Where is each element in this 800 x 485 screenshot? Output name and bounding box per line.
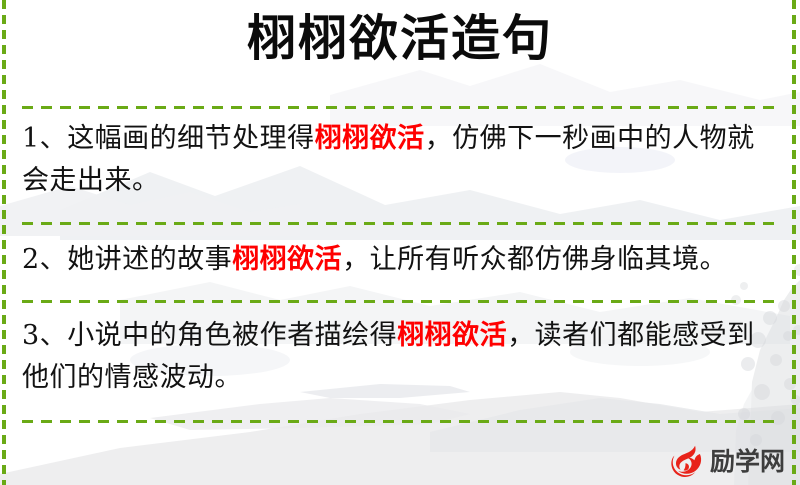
page-title: 栩栩欲活造句 [0,12,800,66]
site-logo[interactable]: 励学网 [668,441,792,481]
sentence-3-number: 3、 [22,320,67,351]
sentence-3-text-before: 小说中的角色被作者描绘得 [67,320,397,351]
red-swirl-icon [668,442,706,480]
logo-text: 励学网 [710,449,785,474]
sentence-1-text-before: 这幅画的细节处理得 [67,123,315,154]
separator-after-sentence-2 [22,300,778,303]
sentence-2-number: 2、 [22,244,67,275]
sentence-2-text-after: ，让所有听众都仿佛身临其境。 [342,244,727,275]
example-sentence-1: 1、这幅画的细节处理得栩栩欲活，仿佛下一秒画中的人物就会走出来。 [22,118,774,202]
sentence-3-idiom: 栩栩欲活 [397,320,507,351]
separator-after-sentence-3 [22,420,778,423]
right-dashed-border [792,0,796,485]
sentence-2-idiom: 栩栩欲活 [232,244,342,275]
sentence-1-idiom: 栩栩欲活 [315,123,425,154]
slide-page: 栩栩欲活造句 1、这幅画的细节处理得栩栩欲活，仿佛下一秒画中的人物就会走出来。 … [0,0,800,485]
separator-below-title [22,106,778,109]
left-dashed-border [2,0,6,485]
example-sentence-3: 3、小说中的角色被作者描绘得栩栩欲活，读者们都能感受到他们的情感波动。 [22,315,774,399]
separator-after-sentence-1 [22,222,778,225]
example-sentence-2: 2、她讲述的故事栩栩欲活，让所有听众都仿佛身临其境。 [22,239,774,281]
sentence-2-text-before: 她讲述的故事 [67,244,232,275]
sentence-1-number: 1、 [22,123,67,154]
